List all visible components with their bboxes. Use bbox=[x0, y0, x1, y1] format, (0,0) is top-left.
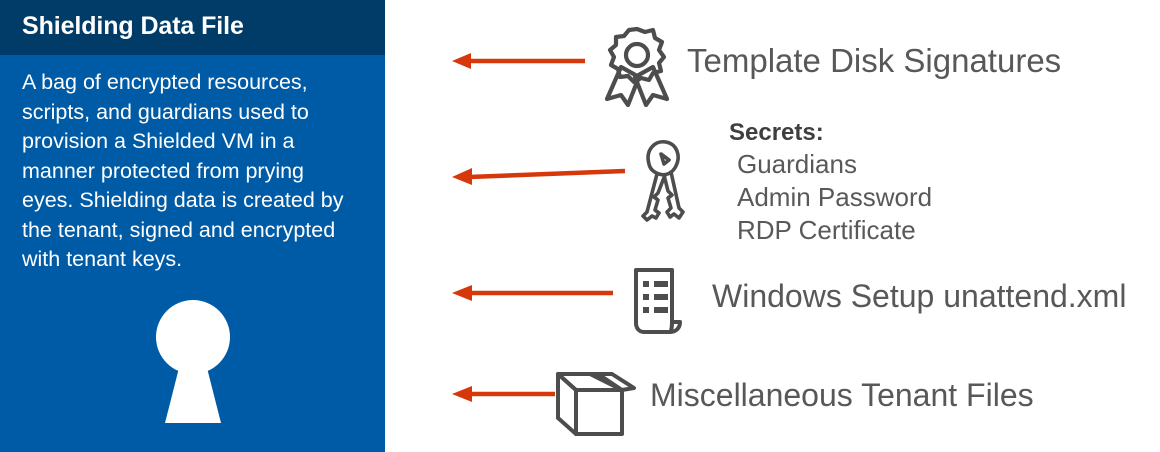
secret-item: Admin Password bbox=[737, 181, 932, 214]
left-arrow-icon bbox=[447, 163, 627, 187]
shielding-data-file-panel: Shielding Data File A bag of encrypted r… bbox=[0, 0, 385, 452]
row-label-windows-setup-unattend: Windows Setup unattend.xml bbox=[712, 278, 1126, 315]
secret-item: RDP Certificate bbox=[737, 214, 932, 247]
row-label-template-disk-signatures: Template Disk Signatures bbox=[687, 42, 1061, 80]
keyhole-icon bbox=[147, 300, 239, 423]
left-arrow-icon bbox=[447, 383, 557, 405]
secrets-text-block: Secrets: Guardians Admin Password RDP Ce… bbox=[729, 118, 932, 247]
box-icon bbox=[550, 362, 636, 442]
left-arrow-icon bbox=[447, 50, 587, 72]
slide-canvas: Shielding Data File A bag of encrypted r… bbox=[0, 0, 1160, 452]
secrets-heading: Secrets: bbox=[729, 118, 932, 148]
row-label-miscellaneous-tenant-files: Miscellaneous Tenant Files bbox=[650, 377, 1034, 414]
document-list-icon bbox=[628, 266, 688, 336]
secret-item: Guardians bbox=[737, 148, 932, 181]
panel-description: A bag of encrypted resources, scripts, a… bbox=[22, 68, 354, 275]
page-title: Shielding Data File bbox=[22, 12, 372, 41]
keys-icon bbox=[631, 138, 693, 228]
left-arrow-icon bbox=[447, 282, 615, 304]
award-seal-icon bbox=[597, 25, 677, 107]
